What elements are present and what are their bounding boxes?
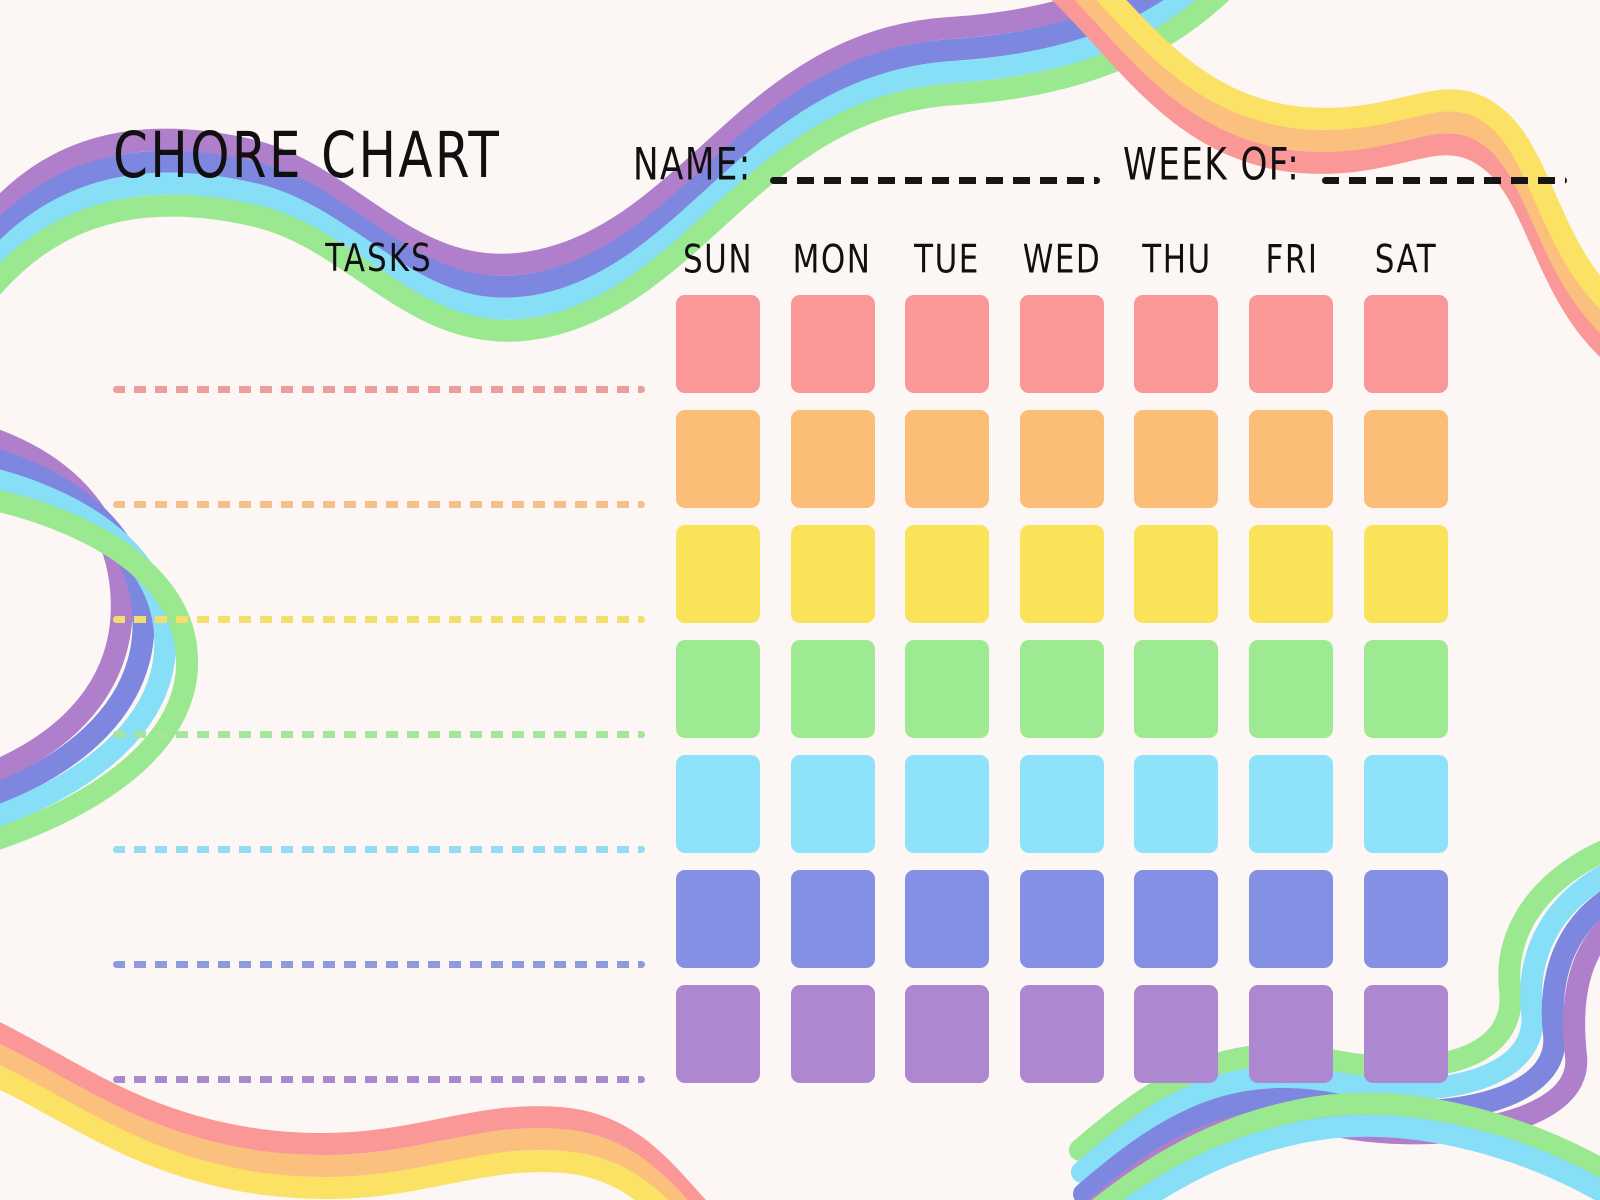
chore-row <box>0 985 1600 1083</box>
checkbox-cell-sun[interactable] <box>676 525 760 623</box>
chore-row <box>0 755 1600 853</box>
checkbox-cell-thu[interactable] <box>1134 525 1218 623</box>
checkbox-cell-wed[interactable] <box>1020 640 1104 738</box>
checkbox-cell-wed[interactable] <box>1020 410 1104 508</box>
checkbox-cell-fri[interactable] <box>1249 755 1333 853</box>
checkbox-cell-mon[interactable] <box>791 755 875 853</box>
checkbox-cell-mon[interactable] <box>791 410 875 508</box>
checkbox-cell-sat[interactable] <box>1364 525 1448 623</box>
chore-chart-page: CHORE CHART NAME: WEEK OF: TASKS SUN MON… <box>0 0 1600 1200</box>
checkbox-cell-sat[interactable] <box>1364 870 1448 968</box>
checkbox-cell-thu[interactable] <box>1134 870 1218 968</box>
checkbox-cell-wed[interactable] <box>1020 985 1104 1083</box>
checkbox-cell-sun[interactable] <box>676 410 760 508</box>
checkbox-cell-sun[interactable] <box>676 755 760 853</box>
checkbox-cell-sat[interactable] <box>1364 985 1448 1083</box>
task-input-line[interactable] <box>113 731 645 738</box>
checkbox-cell-wed[interactable] <box>1020 755 1104 853</box>
checkbox-cell-fri[interactable] <box>1249 525 1333 623</box>
chore-row <box>0 640 1600 738</box>
checkbox-cell-thu[interactable] <box>1134 410 1218 508</box>
checkbox-cell-sat[interactable] <box>1364 640 1448 738</box>
chore-row <box>0 525 1600 623</box>
checkbox-cell-wed[interactable] <box>1020 525 1104 623</box>
chore-grid <box>0 0 1600 1200</box>
checkbox-cell-fri[interactable] <box>1249 410 1333 508</box>
checkbox-cell-wed[interactable] <box>1020 295 1104 393</box>
chore-row <box>0 870 1600 968</box>
checkbox-cell-tue[interactable] <box>905 640 989 738</box>
checkbox-cell-fri[interactable] <box>1249 640 1333 738</box>
checkbox-cell-thu[interactable] <box>1134 755 1218 853</box>
checkbox-cell-sun[interactable] <box>676 870 760 968</box>
checkbox-cell-thu[interactable] <box>1134 640 1218 738</box>
task-input-line[interactable] <box>113 386 645 393</box>
checkbox-cell-fri[interactable] <box>1249 870 1333 968</box>
checkbox-cell-mon[interactable] <box>791 985 875 1083</box>
task-input-line[interactable] <box>113 961 645 968</box>
checkbox-cell-fri[interactable] <box>1249 985 1333 1083</box>
checkbox-cell-sun[interactable] <box>676 985 760 1083</box>
checkbox-cell-tue[interactable] <box>905 755 989 853</box>
checkbox-cell-sat[interactable] <box>1364 295 1448 393</box>
chore-row <box>0 410 1600 508</box>
checkbox-cell-sun[interactable] <box>676 640 760 738</box>
task-input-line[interactable] <box>113 846 645 853</box>
checkbox-cell-tue[interactable] <box>905 870 989 968</box>
checkbox-cell-tue[interactable] <box>905 295 989 393</box>
task-input-line[interactable] <box>113 1076 645 1083</box>
checkbox-cell-thu[interactable] <box>1134 295 1218 393</box>
checkbox-cell-wed[interactable] <box>1020 870 1104 968</box>
checkbox-cell-sun[interactable] <box>676 295 760 393</box>
checkbox-cell-sat[interactable] <box>1364 410 1448 508</box>
task-input-line[interactable] <box>113 616 645 623</box>
checkbox-cell-mon[interactable] <box>791 640 875 738</box>
checkbox-cell-thu[interactable] <box>1134 985 1218 1083</box>
checkbox-cell-sat[interactable] <box>1364 755 1448 853</box>
task-input-line[interactable] <box>113 501 645 508</box>
checkbox-cell-fri[interactable] <box>1249 295 1333 393</box>
checkbox-cell-tue[interactable] <box>905 985 989 1083</box>
chore-row <box>0 295 1600 393</box>
checkbox-cell-tue[interactable] <box>905 525 989 623</box>
checkbox-cell-tue[interactable] <box>905 410 989 508</box>
checkbox-cell-mon[interactable] <box>791 525 875 623</box>
checkbox-cell-mon[interactable] <box>791 870 875 968</box>
checkbox-cell-mon[interactable] <box>791 295 875 393</box>
